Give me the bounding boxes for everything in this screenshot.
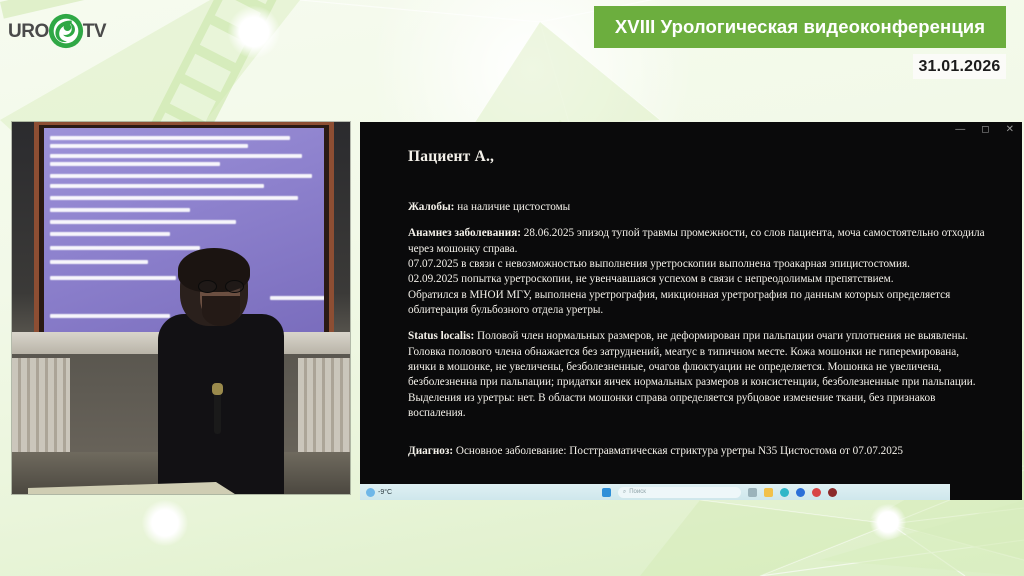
taskbar-weather-widget[interactable]: -9°C — [360, 488, 486, 497]
podium-top — [28, 482, 238, 494]
uro-tv-emblem-icon — [47, 12, 85, 50]
speaker-video-pane[interactable] — [12, 122, 350, 494]
page-title: XVIII Урологическая видеоконференция — [615, 16, 985, 38]
anamnesis-label: Анамнез заболевания: — [408, 227, 521, 239]
anamnesis-line-3: 02.09.2025 попытка уретроскопии, не увен… — [408, 272, 988, 287]
minimize-icon[interactable]: — — [955, 125, 965, 135]
speaker-body — [158, 314, 284, 494]
window-controls: — ◻ ✕ — [955, 125, 1014, 135]
radiator-left — [12, 358, 70, 452]
anamnesis-line-4: Обратился в МНОИ МГУ, выполнена уретрогр… — [408, 288, 988, 319]
messenger-icon[interactable] — [796, 488, 805, 497]
file-explorer-icon[interactable] — [764, 488, 773, 497]
taskbar-center-group: ⌕ Поиск — [486, 487, 953, 498]
conference-title-banner: XVIII Урологическая видеоконференция — [594, 6, 1006, 48]
light-glow-top — [228, 6, 280, 58]
maximize-icon[interactable]: ◻ — [981, 125, 989, 135]
light-glow-bottom — [142, 500, 188, 546]
diagnosis-paragraph: Диагноз: Основное заболевание: Посттравм… — [408, 444, 988, 459]
slide-title: Пациент А., — [408, 148, 988, 166]
weather-temperature: -9°C — [378, 489, 392, 496]
browser-icon[interactable] — [828, 488, 837, 497]
status-localis-label: Status localis: — [408, 330, 474, 342]
taskbar-right-blank — [950, 484, 1022, 500]
status-localis-text: Половой член нормальных размеров, не деф… — [408, 330, 976, 419]
task-view-icon[interactable] — [748, 488, 757, 497]
diagnosis-text: Основное заболевание: Посттравматическая… — [453, 445, 903, 457]
conference-date: 31.01.2026 — [918, 58, 1000, 76]
speaker-glasses — [198, 280, 246, 293]
light-glow-node — [870, 504, 906, 540]
speaker-figure — [154, 252, 286, 494]
anamnesis-paragraph: Анамнез заболевания: 28.06.2025 эпизод т… — [408, 226, 988, 318]
start-icon[interactable] — [602, 488, 611, 497]
screen: URO TV XVIII Урологическая видеоконферен… — [0, 0, 1024, 576]
logo-text-tv: TV — [83, 22, 106, 41]
speaker-beard — [202, 296, 240, 326]
radiator-right — [298, 358, 350, 452]
diagnosis-label: Диагноз: — [408, 445, 453, 457]
status-localis-paragraph: Status localis: Половой член нормальных … — [408, 329, 988, 421]
taskbar-search-input[interactable]: ⌕ Поиск — [618, 487, 741, 498]
presentation-slide-pane[interactable]: — ◻ ✕ Пациент А., Жалобы: на наличие цис… — [360, 122, 1022, 500]
complaints-label: Жалобы: — [408, 201, 454, 213]
close-icon[interactable]: ✕ — [1006, 125, 1014, 135]
anamnesis-line-2: 07.07.2025 в связи с невозможностью выпо… — [408, 257, 988, 272]
weather-icon — [366, 488, 375, 497]
conference-date-badge: 31.01.2026 — [913, 54, 1006, 79]
uro-tv-logo[interactable]: URO TV — [8, 8, 116, 54]
search-icon: ⌕ — [623, 489, 626, 496]
complaints-text: на наличие цистостомы — [454, 201, 570, 213]
search-placeholder: Поиск — [629, 489, 646, 495]
slide-content: Пациент А., Жалобы: на наличие цистостом… — [408, 148, 988, 471]
logo-text-uro: URO — [8, 22, 49, 41]
media-player-icon[interactable] — [812, 488, 821, 497]
microphone-icon — [214, 392, 221, 434]
edge-browser-icon[interactable] — [780, 488, 789, 497]
complaints-paragraph: Жалобы: на наличие цистостомы — [408, 200, 988, 215]
windows-taskbar[interactable]: -9°C ⌕ Поиск 13: — [360, 484, 1022, 500]
podium — [28, 482, 238, 494]
